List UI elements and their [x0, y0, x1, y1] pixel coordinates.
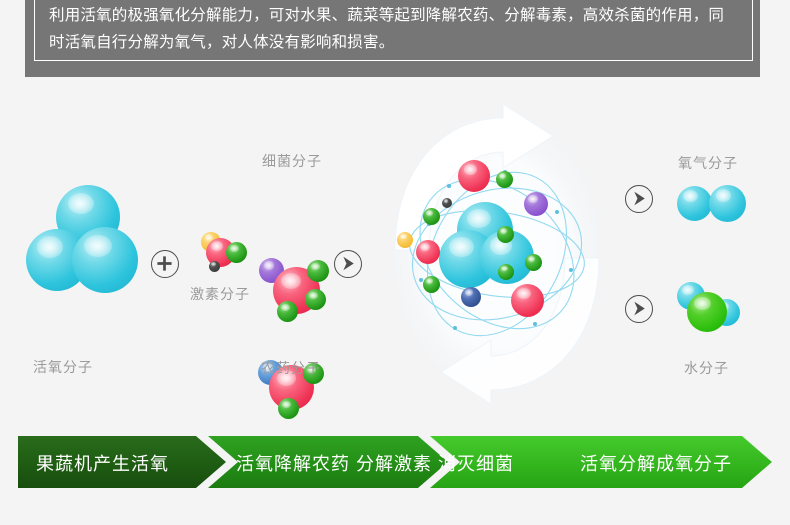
reaction-atom-green-bottomleft [423, 276, 440, 293]
plus-circle-icon [151, 250, 179, 278]
bacteria-atom-green-right [305, 289, 326, 310]
central-reaction-cluster [385, 102, 610, 407]
reaction-atom-green-top [496, 171, 513, 188]
reaction-atom-green-mid [497, 226, 514, 243]
hormone-atom-dark [209, 261, 220, 272]
reaction-atom-red-bottom [511, 284, 544, 317]
reaction-atom-red-top [458, 160, 490, 192]
oxygen-atom-left [677, 186, 712, 221]
bacteria-atom-green-bottom [277, 301, 298, 322]
reaction-atom-dark [442, 198, 452, 208]
bacteria-atom-green-top [307, 260, 329, 282]
process-banner: 果蔬机产生活氧 活氧降解农药 分解激素 消灭细菌 活氧分解成氧分子 [18, 436, 772, 488]
label-water: 水分子 [684, 358, 729, 378]
molecule-reaction-diagram: 活氧分子 细菌分子 激素分子 农药分子 [0, 77, 790, 427]
label-hormone: 激素分子 [190, 284, 250, 304]
reaction-atom-green-low [498, 264, 514, 280]
process-step-3-label: 活氧分解成氧分子 [580, 450, 732, 476]
process-step-2-label: 活氧降解农药 分解激素 消灭细菌 [236, 450, 514, 476]
label-bacteria: 细菌分子 [262, 151, 322, 171]
ozone-atom-right [72, 227, 138, 293]
reaction-atom-purple [524, 192, 548, 216]
label-oxygen: 氧气分子 [678, 153, 738, 173]
arrow-circle-icon-center [334, 250, 362, 278]
reaction-atom-yellow [397, 232, 413, 248]
arrow-circle-icon-oxygen [625, 185, 653, 213]
reaction-atom-red-left [416, 240, 440, 264]
reaction-atom-green-left [423, 208, 440, 225]
label-pesticide: 农药分子 [261, 358, 321, 378]
water-atom-oxygen [687, 292, 727, 332]
hormone-atom-green [226, 242, 247, 263]
intro-panel: 利用活氧的极强氧化分解能力，可对水果、蔬菜等起到降解农药、分解毒素，高效杀菌的作… [25, 0, 760, 77]
intro-panel-border: 利用活氧的极强氧化分解能力，可对水果、蔬菜等起到降解农药、分解毒素，高效杀菌的作… [34, 0, 753, 61]
reaction-atom-green-right [525, 254, 542, 271]
intro-description-text: 利用活氧的极强氧化分解能力，可对水果、蔬菜等起到降解农药、分解毒素，高效杀菌的作… [49, 2, 738, 56]
label-ozone: 活氧分子 [33, 357, 93, 377]
oxygen-atom-right [709, 185, 746, 222]
arrow-circle-icon-water [625, 295, 653, 323]
process-step-1-label: 果蔬机产生活氧 [36, 450, 169, 476]
reaction-atom-navy [461, 287, 481, 307]
pesticide-atom-green-bottom [278, 398, 299, 419]
